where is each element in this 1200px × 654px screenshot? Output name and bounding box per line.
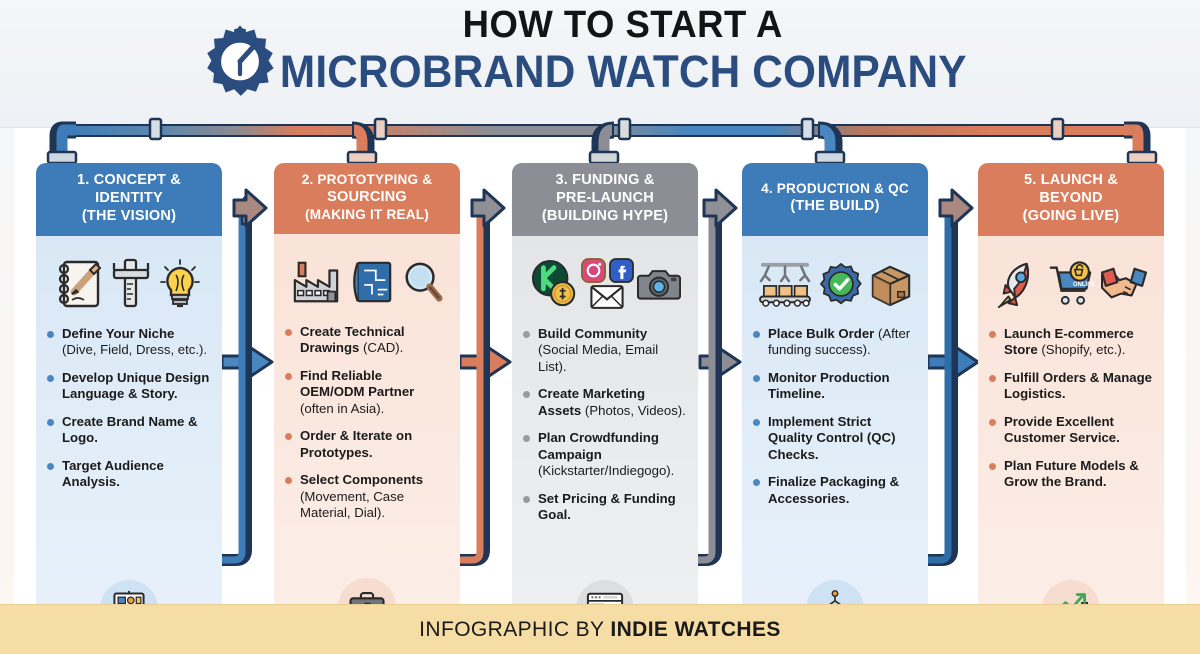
step-1-body: Define Your Niche (Dive, Field, Dress, e… [36, 236, 222, 620]
list-item: Place Bulk Order (After funding success)… [752, 326, 918, 359]
cart-online-label: ONLINE [1073, 282, 1095, 288]
step-3-head-line-2: PRE-LAUNCH [518, 190, 692, 208]
notebook-pencil-icon [56, 258, 104, 310]
list-item: Create Brand Name & Logo. [46, 414, 212, 447]
step-4-header: 4. PRODUCTION & QC (THE BUILD) [742, 163, 928, 236]
instagram-icon [581, 258, 606, 283]
step-1-head-line-3: (THE VISION) [42, 208, 216, 226]
step-2-header: 2. PROTOTYPING & SOURCING (MAKING IT REA… [274, 163, 460, 234]
right-edge-tint [1186, 128, 1200, 604]
arrow-3-to-4 [700, 346, 740, 378]
step-2-head-line-2: SOURCING [280, 189, 454, 207]
header-band: HOW TO START A MICROBRAND WATCH COMPANY [0, 0, 1200, 128]
assembly-line-icon [757, 260, 813, 308]
list-item: Create Technical Drawings (CAD). [284, 324, 450, 357]
arrow-1-to-2 [222, 346, 272, 378]
handshake-icon [1100, 263, 1148, 305]
list-item: Monitor Production Timeline. [752, 370, 918, 403]
list-item: Finalize Packaging & Accessories. [752, 474, 918, 507]
page-title-line2: MICROBRAND WATCH COMPANY [280, 48, 967, 95]
list-item: Plan Crowdfunding Campaign (Kickstarter/… [522, 430, 688, 480]
footer-brand: INDIE WATCHES [610, 618, 780, 641]
step-4-body: Place Bulk Order (After funding success)… [742, 236, 928, 620]
step-1-header: 1. CONCEPT & IDENTITY (THE VISION) [36, 163, 222, 236]
step-1-head-line-1: 1. CONCEPT & [42, 172, 216, 190]
list-item: Set Pricing & Funding Goal. [522, 491, 688, 524]
step-3-head-line-1: 3. FUNDING & [518, 172, 692, 190]
step-card-4[interactable]: 4. PRODUCTION & QC (THE BUILD) [742, 163, 928, 620]
step-2-bullet-list: Create Technical Drawings (CAD). Find Re… [284, 324, 450, 522]
list-item: Find Reliable OEM/ODM Partner (often in … [284, 368, 450, 418]
arrow-4-to-5 [928, 346, 978, 378]
magnifier-icon [401, 259, 443, 305]
list-item: Select Components (Movement, Case Materi… [284, 472, 450, 522]
step-3-header: 3. FUNDING & PRE-LAUNCH (BUILDING HYPE) [512, 163, 698, 236]
step-3-head-line-3: (BUILDING HYPE) [518, 208, 692, 226]
step-5-bullet-list: Launch E-commerce Store (Shopify, etc.).… [988, 326, 1154, 491]
step-card-1[interactable]: 1. CONCEPT & IDENTITY (THE VISION) [36, 163, 222, 620]
page-title-line1: HOW TO START A [463, 6, 783, 44]
title-block: HOW TO START A MICROBRAND WATCH COMPANY [0, 6, 1200, 95]
caliper-icon [111, 258, 151, 310]
step-4-icon-row [752, 248, 918, 320]
infographic-root: HOW TO START A MICROBRAND WATCH COMPANY [0, 0, 1200, 654]
list-item: Plan Future Models & Grow the Brand. [988, 458, 1154, 491]
step-card-2[interactable]: 2. PROTOTYPING & SOURCING (MAKING IT REA… [274, 163, 460, 618]
step-2-body: Create Technical Drawings (CAD). Find Re… [274, 234, 460, 618]
step-3-icon-row [522, 248, 688, 320]
step-3-bullet-list: Build Community (Social Media, Email Lis… [522, 326, 688, 524]
footer-credit: INFOGRAPHIC BY INDIE WATCHES [419, 618, 781, 642]
step-5-header: 5. LAUNCH & BEYOND (GOING LIVE) [978, 163, 1164, 236]
factory-icon [291, 258, 341, 306]
footer-band: INFOGRAPHIC BY INDIE WATCHES [0, 604, 1200, 654]
step-1-icon-row [46, 248, 212, 320]
lightbulb-icon [158, 258, 202, 310]
blueprint-icon [348, 257, 394, 307]
step-4-head-line-1: 4. PRODUCTION & QC [748, 181, 922, 198]
step-5-head-line-1: 5. LAUNCH & [984, 172, 1158, 190]
step-1-bullet-list: Define Your Niche (Dive, Field, Dress, e… [46, 326, 212, 491]
shipping-box-icon [869, 262, 913, 306]
step-5-head-line-2: BEYOND [984, 190, 1158, 208]
list-item: Order & Iterate on Prototypes. [284, 428, 450, 461]
list-item: Fulfill Orders & Manage Logistics. [988, 370, 1154, 403]
email-icon [590, 284, 624, 310]
list-item: Define Your Niche (Dive, Field, Dress, e… [46, 326, 212, 359]
list-item: Develop Unique Design Language & Story. [46, 370, 212, 403]
list-item: Create Marketing Assets (Photos, Videos)… [522, 386, 688, 419]
online-shopping-cart-icon: ONLINE [1048, 260, 1096, 308]
step-4-bullet-list: Place Bulk Order (After funding success)… [752, 326, 918, 508]
rocket-icon [994, 259, 1044, 309]
step-2-icon-row [284, 246, 450, 318]
step-5-icon-row: ONLINE [988, 248, 1154, 320]
kickstarter-coin-icon [530, 259, 578, 309]
pipe-rail [62, 124, 1140, 137]
step-card-3[interactable]: 3. FUNDING & PRE-LAUNCH (BUILDING HYPE) [512, 163, 698, 620]
list-item: Implement Strict Quality Control (QC) Ch… [752, 414, 918, 464]
arrow-2-to-3 [460, 346, 510, 378]
step-5-head-line-3: (GOING LIVE) [984, 208, 1158, 226]
step-4-head-line-2: (THE BUILD) [748, 198, 922, 216]
step-3-body: Build Community (Social Media, Email Lis… [512, 236, 698, 620]
facebook-icon [609, 258, 634, 283]
step-1-head-line-2: IDENTITY [42, 190, 216, 208]
step-2-head-line-3: (MAKING IT REAL) [280, 207, 454, 224]
list-item: Target Audience Analysis. [46, 458, 212, 491]
step-card-5[interactable]: 5. LAUNCH & BEYOND (GOING LIVE) [978, 163, 1164, 620]
camera-icon [637, 266, 681, 302]
list-item: Launch E-commerce Store (Shopify, etc.). [988, 326, 1154, 359]
list-item: Provide Excellent Customer Service. [988, 414, 1154, 447]
quality-check-badge-icon [820, 263, 862, 305]
left-edge-tint [0, 128, 14, 604]
step-2-head-line-1: 2. PROTOTYPING & [280, 172, 454, 189]
list-item: Build Community (Social Media, Email Lis… [522, 326, 688, 376]
footer-prefix: INFOGRAPHIC BY [419, 618, 610, 641]
step-5-body: ONLINE Launch E-commerce Store (Shopify,… [978, 236, 1164, 620]
